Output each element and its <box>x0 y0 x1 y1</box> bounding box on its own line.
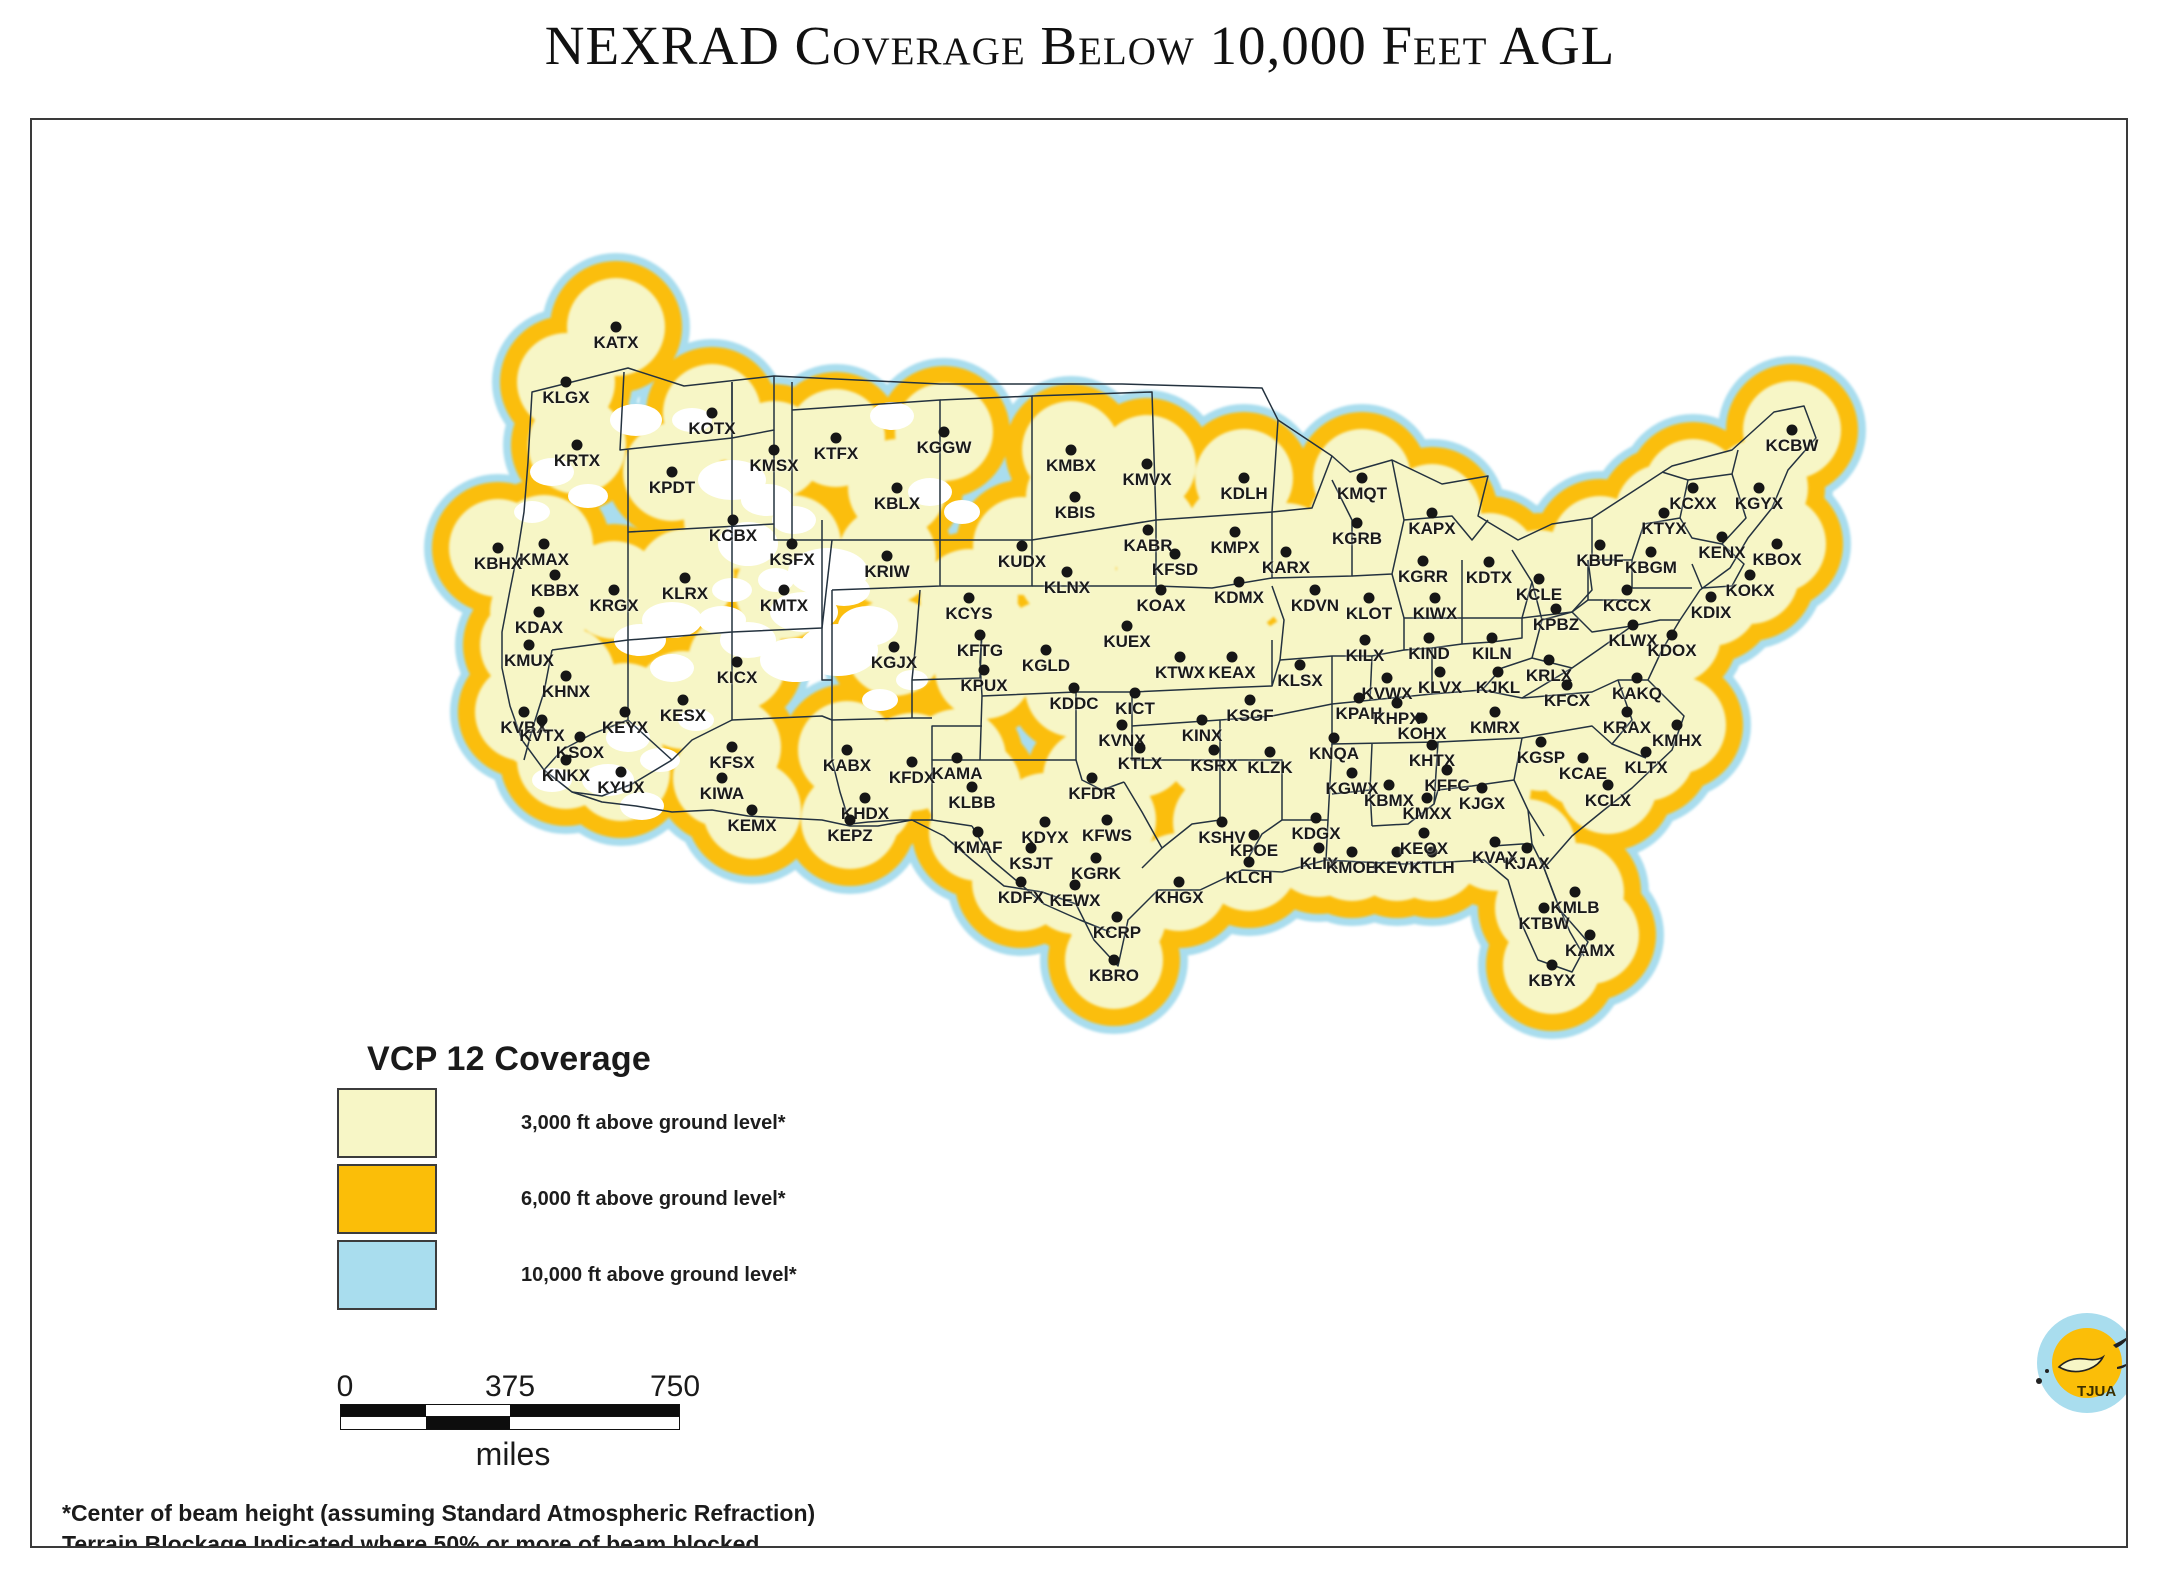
radar-station-label: KBGM <box>1625 558 1677 578</box>
legend-item-3000ft: 3,000 ft above ground level* <box>337 1087 1057 1159</box>
radar-station-dot <box>1539 903 1550 914</box>
footnote-beam-height: *Center of beam height (assuming Standar… <box>62 1498 815 1529</box>
radar-station-label: KICT <box>1115 699 1155 719</box>
radar-station-label: KAMA <box>932 764 983 784</box>
radar-station-dot <box>1641 747 1652 758</box>
radar-station-label: KMSX <box>749 456 798 476</box>
radar-station-dot <box>889 642 900 653</box>
radar-station-dot <box>680 573 691 584</box>
radar-station-dot <box>1382 673 1393 684</box>
radar-station-label: KYUX <box>597 778 644 798</box>
radar-station-label: KTLH <box>1409 858 1454 878</box>
radar-station-dot <box>1484 557 1495 568</box>
radar-station-label: KLBB <box>948 793 995 813</box>
radar-station-dot <box>1197 715 1208 726</box>
radar-station-dot <box>1311 813 1322 824</box>
radar-station-label: KMBX <box>1046 456 1096 476</box>
radar-station-dot <box>1174 877 1185 888</box>
radar-station-label: KATX <box>593 333 638 353</box>
terrain-blockage-void <box>610 404 662 436</box>
radar-station-label: KNQA <box>1309 744 1359 764</box>
radar-station-label: KUEX <box>1103 632 1150 652</box>
radar-station-label: KOAX <box>1136 596 1185 616</box>
radar-station-label: KLTX <box>1624 758 1667 778</box>
radar-station-label: KMAX <box>519 550 569 570</box>
radar-station-label: KBLX <box>874 494 920 514</box>
radar-station-dot <box>1628 620 1639 631</box>
terrain-blockage-void <box>862 689 898 711</box>
radar-station-dot <box>1659 508 1670 519</box>
radar-station-dot <box>620 707 631 718</box>
radar-station-label: KGRB <box>1332 529 1382 549</box>
radar-station-dot <box>550 570 561 581</box>
terrain-blockage-void <box>944 500 980 524</box>
radar-station-dot <box>1352 518 1363 529</box>
radar-station-label: KILN <box>1472 644 1512 664</box>
radar-station-dot <box>1570 887 1581 898</box>
radar-station-dot <box>1245 695 1256 706</box>
terrain-blockage-void <box>568 484 608 508</box>
radar-station-dot <box>1130 688 1141 699</box>
terrain-blockage-void <box>650 654 694 682</box>
radar-station-dot <box>1347 847 1358 858</box>
radar-station-label: KEAX <box>1208 663 1255 683</box>
radar-station-dot <box>1239 473 1250 484</box>
radar-station-label: KHNX <box>542 682 590 702</box>
terrain-blockage-void <box>514 501 550 523</box>
radar-station-dot <box>1487 633 1498 644</box>
radar-station-label: KDLH <box>1220 484 1267 504</box>
radar-station-dot <box>1585 930 1596 941</box>
radar-station-label: KOKX <box>1725 581 1774 601</box>
scale-bar-units: miles <box>340 1436 686 1473</box>
radar-station-label: KIND <box>1408 644 1450 664</box>
radar-station-dot <box>717 773 728 784</box>
radar-station-label: KSGF <box>1226 706 1273 726</box>
radar-station-label: KMAF <box>953 838 1002 858</box>
radar-station-label: KSJT <box>1009 854 1052 874</box>
radar-station-dot <box>1295 660 1306 671</box>
radar-station-dot <box>1603 780 1614 791</box>
radar-station-label: KCCX <box>1603 596 1651 616</box>
radar-station-label: KINX <box>1182 726 1223 746</box>
radar-station-dot <box>907 757 918 768</box>
radar-station-dot <box>1070 492 1081 503</box>
radar-station-label: KEMX <box>727 816 776 836</box>
scale-tick-0: 0 <box>337 1370 354 1404</box>
radar-station-label: KSRX <box>1190 756 1237 776</box>
radar-station-dot <box>1091 853 1102 864</box>
radar-station-label: KSFX <box>769 550 814 570</box>
radar-station-dot <box>609 585 620 596</box>
radar-station-label: KDMX <box>1214 588 1264 608</box>
radar-station-label: KFCX <box>1544 691 1590 711</box>
radar-station-dot <box>1249 830 1260 841</box>
radar-station-dot <box>1672 720 1683 731</box>
map-figure-frame: KATXKLGXKRTXKOTXKPDTKMSXKTFXKGGWKMBXKMVX… <box>30 118 2128 1548</box>
nexrad-coverage-map <box>32 120 2128 1548</box>
radar-station-label: KJAX <box>1504 854 1549 874</box>
radar-station-dot <box>1087 773 1098 784</box>
radar-station-dot <box>860 793 871 804</box>
scale-tick-750: 750 <box>650 1370 700 1404</box>
radar-station-label: KGLD <box>1022 656 1070 676</box>
radar-station-dot <box>1156 585 1167 596</box>
radar-station-dot <box>1544 655 1555 666</box>
puerto-rico-inset-map <box>2025 1305 2128 1430</box>
legend-title: VCP 12 Coverage <box>367 1040 1057 1079</box>
radar-station-dot <box>1706 592 1717 603</box>
radar-station-label: KFDR <box>1068 784 1115 804</box>
radar-station-label: KESX <box>660 706 706 726</box>
radar-station-dot <box>1329 733 1340 744</box>
radar-station-dot <box>1347 768 1358 779</box>
radar-station-dot <box>1427 740 1438 751</box>
radar-station-dot <box>1016 877 1027 888</box>
radar-station-dot <box>1562 680 1573 691</box>
radar-station-label: KABR <box>1123 536 1172 556</box>
radar-station-label: KRIW <box>864 562 909 582</box>
radar-station-label: KMQT <box>1337 484 1387 504</box>
puerto-rico-inset: TJUA <box>2025 1305 2128 1430</box>
radar-station-label: KBHX <box>474 554 522 574</box>
scale-bar-top-row <box>340 1404 680 1417</box>
radar-station-label: KLCH <box>1225 868 1272 888</box>
radar-station-label: KBOX <box>1752 550 1801 570</box>
radar-station-label: KUDX <box>998 552 1046 572</box>
radar-station-label: KFSD <box>1152 560 1198 580</box>
radar-station-label: KNKX <box>542 766 590 786</box>
radar-station-dot <box>1360 635 1371 646</box>
radar-station-dot <box>1041 645 1052 656</box>
radar-station-label: KTYX <box>1641 519 1686 539</box>
radar-station-dot <box>1265 747 1276 758</box>
terrain-blockage-void <box>614 624 666 656</box>
radar-station-dot <box>1170 549 1181 560</box>
radar-station-dot <box>728 515 739 526</box>
footnotes: *Center of beam height (assuming Standar… <box>62 1498 815 1548</box>
radar-station-label: KEOX <box>1400 839 1448 859</box>
radar-station-label: KDDC <box>1049 694 1098 714</box>
inset-station-label: TJUA <box>2077 1383 2116 1400</box>
radar-station-dot <box>1688 483 1699 494</box>
radar-station-label: KPUX <box>960 676 1007 696</box>
radar-station-dot <box>1522 843 1533 854</box>
radar-station-label: KLGX <box>542 388 589 408</box>
radar-station-label: KJKL <box>1476 678 1520 698</box>
radar-station-label: KCLX <box>1585 791 1631 811</box>
radar-station-dot <box>779 585 790 596</box>
radar-station-label: KBYX <box>1528 971 1575 991</box>
radar-station-label: KFDX <box>889 768 935 788</box>
legend-swatch-6000ft <box>337 1164 437 1234</box>
radar-station-label: KMTX <box>760 596 808 616</box>
legend-label-10000ft: 10,000 ft above ground level* <box>521 1264 797 1287</box>
radar-station-label: KFSX <box>709 753 754 773</box>
radar-station-label: KAPX <box>1408 519 1455 539</box>
map-canvas <box>32 120 2128 1548</box>
radar-station-dot <box>747 805 758 816</box>
radar-station-dot <box>1017 541 1028 552</box>
radar-station-dot <box>1234 577 1245 588</box>
radar-station-dot <box>1175 652 1186 663</box>
radar-station-dot <box>1070 880 1081 891</box>
radar-station-dot <box>1646 547 1657 558</box>
radar-station-dot <box>524 640 535 651</box>
radar-station-label: KEWX <box>1050 891 1101 911</box>
radar-station-label: KMPX <box>1210 538 1259 558</box>
radar-station-dot <box>1066 445 1077 456</box>
radar-station-dot <box>787 539 798 550</box>
radar-station-dot <box>1419 828 1430 839</box>
radar-station-label: KMXX <box>1402 804 1451 824</box>
radar-station-label: KICX <box>717 668 758 688</box>
radar-station-dot <box>1595 540 1606 551</box>
radar-station-dot <box>616 767 627 778</box>
radar-station-label: KGRR <box>1398 567 1448 587</box>
radar-station-dot <box>1117 720 1128 731</box>
radar-station-dot <box>1217 817 1228 828</box>
radar-station-label: KJGX <box>1459 794 1505 814</box>
radar-station-dot <box>1417 713 1428 724</box>
radar-station-dot <box>1281 547 1292 558</box>
radar-station-label: KHGX <box>1154 888 1203 908</box>
radar-station-dot <box>1314 843 1325 854</box>
radar-station-label: KABX <box>823 756 871 776</box>
radar-station-dot <box>1632 673 1643 684</box>
radar-station-dot <box>1310 585 1321 596</box>
radar-station-dot <box>952 753 963 764</box>
legend-swatch-10000ft <box>337 1240 437 1310</box>
radar-station-dot <box>845 815 856 826</box>
radar-station-label: KDTX <box>1466 568 1512 588</box>
radar-station-label: KLNX <box>1044 578 1090 598</box>
radar-station-dot <box>1384 780 1395 791</box>
radar-station-dot <box>769 445 780 456</box>
radar-station-label: KFTG <box>957 641 1003 661</box>
radar-station-dot <box>1493 667 1504 678</box>
legend-swatch-3000ft <box>337 1088 437 1158</box>
radar-station-dot <box>572 440 583 451</box>
radar-station-dot <box>1102 815 1113 826</box>
radar-station-dot <box>1142 459 1153 470</box>
terrain-blockage-void <box>772 506 816 534</box>
radar-station-dot <box>1109 955 1120 966</box>
radar-station-dot <box>537 715 548 726</box>
radar-station-dot <box>1143 525 1154 536</box>
radar-station-dot <box>1112 912 1123 923</box>
radar-station-dot <box>1392 698 1403 709</box>
radar-station-label: KENX <box>1698 543 1745 563</box>
radar-station-dot <box>1754 483 1765 494</box>
radar-station-dot <box>1427 508 1438 519</box>
radar-station-label: KPBZ <box>1533 615 1579 635</box>
radar-station-dot <box>539 539 550 550</box>
radar-station-dot <box>1430 593 1441 604</box>
radar-station-dot <box>1547 960 1558 971</box>
radar-station-dot <box>967 782 978 793</box>
radar-station-dot <box>979 665 990 676</box>
radar-station-label: KBBX <box>531 581 579 601</box>
radar-station-label: KDIX <box>1691 603 1732 623</box>
scale-bar: 0 375 750 miles <box>337 1370 737 1473</box>
radar-station-dot <box>939 427 950 438</box>
terrain-blockage-void <box>698 606 746 634</box>
radar-station-dot <box>842 745 853 756</box>
radar-station-label: KFWS <box>1082 826 1132 846</box>
radar-station-label: KEPZ <box>827 826 872 846</box>
radar-station-dot <box>493 543 504 554</box>
terrain-blockage-void <box>640 748 680 772</box>
radar-station-dot <box>1578 753 1589 764</box>
legend-item-6000ft: 6,000 ft above ground level* <box>337 1163 1057 1235</box>
radar-station-label: KARX <box>1262 558 1310 578</box>
radar-station-label: KGGW <box>917 438 972 458</box>
radar-station-label: KCBW <box>1766 436 1819 456</box>
radar-station-label: KBRO <box>1089 966 1139 986</box>
radar-station-dot <box>1135 743 1146 754</box>
radar-station-dot <box>534 607 545 618</box>
radar-station-label: KCRP <box>1093 923 1141 943</box>
radar-station-label: KOHX <box>1397 724 1446 744</box>
radar-station-dot <box>1536 737 1547 748</box>
radar-station-label: KVWX <box>1362 684 1413 704</box>
radar-station-label: KDVN <box>1291 596 1339 616</box>
radar-station-label: KLRX <box>662 584 708 604</box>
radar-station-label: KDGX <box>1291 824 1340 844</box>
radar-station-label: KLVX <box>1418 678 1462 698</box>
radar-station-dot <box>611 322 622 333</box>
radar-station-dot <box>1534 574 1545 585</box>
radar-station-label: KAKQ <box>1612 684 1662 704</box>
radar-station-label: KTWX <box>1155 663 1205 683</box>
radar-station-label: KIWX <box>1413 604 1457 624</box>
radar-station-label: KGJX <box>871 653 917 673</box>
radar-station-dot <box>1435 667 1446 678</box>
radar-station-label: KBIS <box>1055 503 1096 523</box>
radar-station-label: KCLE <box>1516 585 1562 605</box>
radar-station-label: KMOB <box>1326 858 1378 878</box>
radar-station-label: KFFC <box>1424 776 1469 796</box>
radar-station-dot <box>732 657 743 668</box>
radar-station-dot <box>1490 837 1501 848</box>
radar-station-dot <box>1622 707 1633 718</box>
radar-station-label: KAMX <box>1565 941 1615 961</box>
radar-station-dot <box>519 707 530 718</box>
legend-label-6000ft: 6,000 ft above ground level* <box>521 1188 786 1211</box>
radar-station-dot <box>575 732 586 743</box>
radar-station-label: KGSP <box>1517 748 1565 768</box>
radar-station-label: KLZK <box>1247 758 1292 778</box>
scale-bar-ticks: 0 375 750 <box>340 1370 680 1404</box>
radar-station-dot <box>1230 527 1241 538</box>
radar-station-dot <box>973 827 984 838</box>
radar-station-label: KILX <box>1346 646 1385 666</box>
radar-station-dot <box>1667 630 1678 641</box>
radar-station-label: KDOX <box>1647 641 1696 661</box>
radar-station-label: KEYX <box>602 718 648 738</box>
radar-station-dot <box>964 593 975 604</box>
radar-station-dot <box>1040 817 1051 828</box>
radar-station-label: KTFX <box>814 444 858 464</box>
radar-station-dot <box>1442 765 1453 776</box>
terrain-blockage-void <box>870 402 914 430</box>
radar-station-dot <box>1622 585 1633 596</box>
legend: VCP 12 Coverage 3,000 ft above ground le… <box>337 1040 1057 1315</box>
radar-station-dot <box>1062 567 1073 578</box>
radar-station-dot <box>1551 604 1562 615</box>
legend-item-10000ft: 10,000 ft above ground level* <box>337 1239 1057 1311</box>
radar-station-dot <box>892 483 903 494</box>
radar-station-label: KDFX <box>998 888 1044 908</box>
radar-station-label: KCYS <box>945 604 992 624</box>
radar-station-dot <box>1787 425 1798 436</box>
radar-station-dot <box>831 433 842 444</box>
radar-station-label: KGYX <box>1735 494 1783 514</box>
radar-station-dot <box>1244 857 1255 868</box>
radar-station-label: KOTX <box>688 419 735 439</box>
radar-station-dot <box>1364 593 1375 604</box>
radar-station-dot <box>1122 621 1133 632</box>
radar-station-label: KDAX <box>515 618 563 638</box>
radar-station-dot <box>561 377 572 388</box>
radar-station-dot <box>1209 745 1220 756</box>
radar-station-dot <box>1354 693 1365 704</box>
radar-station-dot <box>678 695 689 706</box>
radar-station-dot <box>561 671 572 682</box>
radar-station-label: KMVX <box>1122 470 1171 490</box>
legend-label-3000ft: 3,000 ft above ground level* <box>521 1112 786 1135</box>
radar-station-label: KRTX <box>554 451 600 471</box>
radar-station-dot <box>1772 539 1783 550</box>
radar-station-dot <box>975 630 986 641</box>
radar-station-label: KTLX <box>1118 754 1162 774</box>
scale-bar-bottom-row <box>340 1417 680 1430</box>
radar-station-dot <box>1745 570 1756 581</box>
radar-station-label: KPDT <box>649 478 695 498</box>
radar-station-label: KCAE <box>1559 764 1607 784</box>
radar-station-label: KMUX <box>504 651 554 671</box>
radar-station-dot <box>1424 633 1435 644</box>
radar-station-label: KRAX <box>1603 718 1651 738</box>
radar-station-dot <box>1026 843 1037 854</box>
radar-station-dot <box>1069 683 1080 694</box>
radar-station-dot <box>882 551 893 562</box>
radar-station-dot <box>1227 652 1238 663</box>
radar-station-dot <box>1490 707 1501 718</box>
footnote-terrain-blockage: Terrain Blockage Indicated where 50% or … <box>62 1529 815 1548</box>
radar-station-label: KRGX <box>589 596 638 616</box>
radar-station-label: KMHX <box>1652 731 1702 751</box>
radar-station-label: KTBW <box>1519 914 1570 934</box>
scale-tick-375: 375 <box>485 1370 535 1404</box>
radar-station-dot <box>561 755 572 766</box>
radar-station-label: KCXX <box>1669 494 1716 514</box>
radar-station-dot <box>707 408 718 419</box>
radar-station-dot <box>1717 532 1728 543</box>
radar-station-dot <box>667 467 678 478</box>
radar-station-label: KLSX <box>1277 671 1322 691</box>
page-title: NEXRAD Coverage Below 10,000 Feet AGL <box>0 14 2160 77</box>
radar-station-dot <box>1418 556 1429 567</box>
radar-station-label: KIWA <box>700 784 744 804</box>
radar-station-label: KPOE <box>1230 841 1278 861</box>
radar-station-label: KBUF <box>1576 551 1623 571</box>
radar-station-label: KCBX <box>709 526 757 546</box>
radar-station-label: KMRX <box>1470 718 1520 738</box>
radar-station-dot <box>727 742 738 753</box>
radar-station-dot <box>1357 473 1368 484</box>
